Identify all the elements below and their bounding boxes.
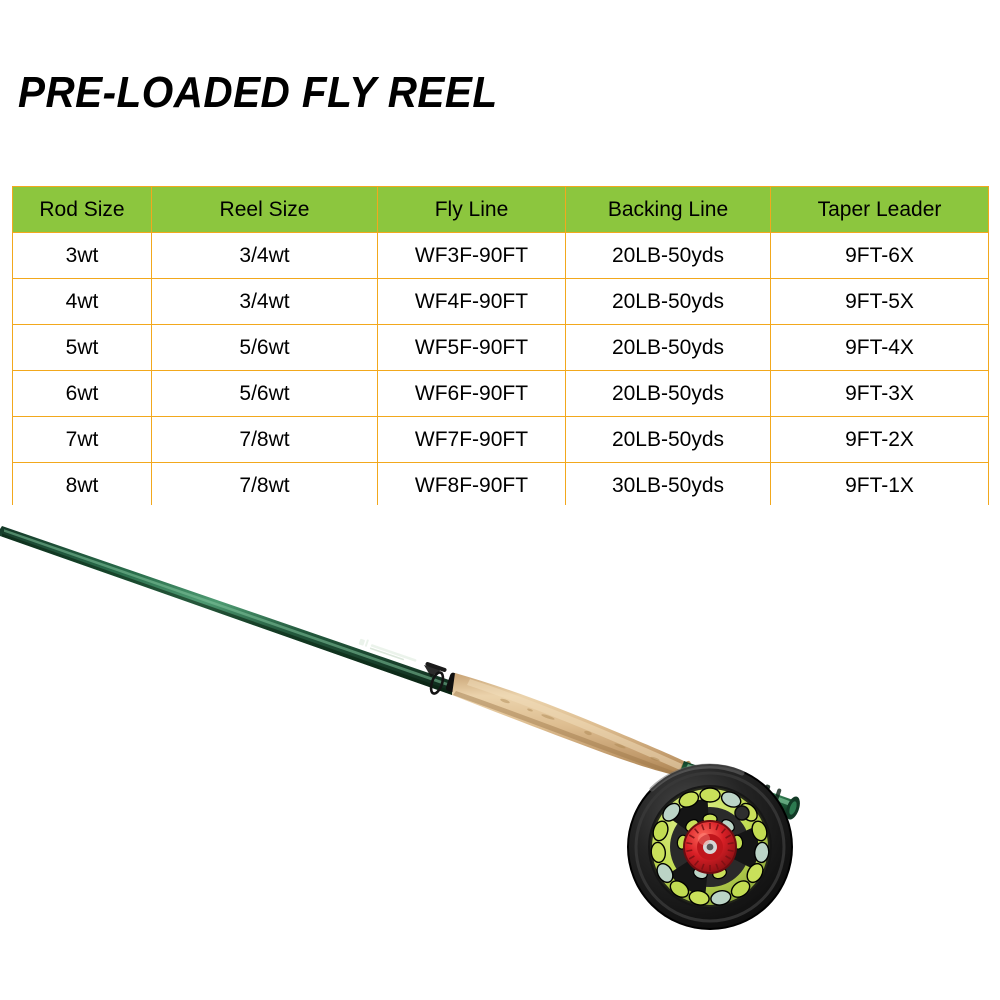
cell-fly-line: WF5F-90FT (378, 325, 566, 371)
fly-rod-and-reel-photo (0, 505, 1000, 1000)
page-title: PRE-LOADED FLY REEL (18, 68, 498, 118)
cell-backing-line: 20LB-50yds (566, 325, 771, 371)
cell-rod-size: 8wt (13, 463, 152, 509)
table-row: 5wt 5/6wt WF5F-90FT 20LB-50yds 9FT-4X (13, 325, 989, 371)
reel-drag-knob[interactable] (684, 821, 736, 873)
table-row: 8wt 7/8wt WF8F-90FT 30LB-50yds 9FT-1X (13, 463, 989, 509)
table-row: 3wt 3/4wt WF3F-90FT 20LB-50yds 9FT-6X (13, 233, 989, 279)
table-row: 6wt 5/6wt WF6F-90FT 20LB-50yds 9FT-3X (13, 371, 989, 417)
fly-reel-spec-table: Rod Size Reel Size Fly Line Backing Line… (12, 186, 989, 509)
cell-rod-size: 6wt (13, 371, 152, 417)
column-header-reel-size: Reel Size (152, 187, 378, 233)
cell-rod-size: 3wt (13, 233, 152, 279)
cell-taper-leader: 9FT-6X (771, 233, 989, 279)
column-header-backing-line: Backing Line (566, 187, 771, 233)
cell-taper-leader: 9FT-5X (771, 279, 989, 325)
cell-backing-line: 30LB-50yds (566, 463, 771, 509)
cell-fly-line: WF8F-90FT (378, 463, 566, 509)
cell-backing-line: 20LB-50yds (566, 417, 771, 463)
cell-backing-line: 20LB-50yds (566, 233, 771, 279)
cell-reel-size: 5/6wt (152, 371, 378, 417)
cell-fly-line: WF3F-90FT (378, 233, 566, 279)
cell-rod-size: 7wt (13, 417, 152, 463)
cell-taper-leader: 9FT-4X (771, 325, 989, 371)
table-header-row: Rod Size Reel Size Fly Line Backing Line… (13, 187, 989, 233)
cell-taper-leader: 9FT-3X (771, 371, 989, 417)
table-row: 4wt 3/4wt WF4F-90FT 20LB-50yds 9FT-5X (13, 279, 989, 325)
cell-backing-line: 20LB-50yds (566, 279, 771, 325)
table-row: 7wt 7/8wt WF7F-90FT 20LB-50yds 9FT-2X (13, 417, 989, 463)
cell-backing-line: 20LB-50yds (566, 371, 771, 417)
cell-taper-leader: 9FT-1X (771, 463, 989, 509)
cell-reel-size: 3/4wt (152, 279, 378, 325)
column-header-taper-leader: Taper Leader (771, 187, 989, 233)
cell-fly-line: WF4F-90FT (378, 279, 566, 325)
column-header-fly-line: Fly Line (378, 187, 566, 233)
cell-fly-line: WF6F-90FT (378, 371, 566, 417)
cell-rod-size: 4wt (13, 279, 152, 325)
cell-taper-leader: 9FT-2X (771, 417, 989, 463)
cell-reel-size: 7/8wt (152, 417, 378, 463)
cell-reel-size: 3/4wt (152, 233, 378, 279)
column-header-rod-size: Rod Size (13, 187, 152, 233)
cork-grip (452, 673, 693, 780)
fly-reel (628, 765, 792, 929)
cell-rod-size: 5wt (13, 325, 152, 371)
cell-reel-size: 5/6wt (152, 325, 378, 371)
rod-blank (0, 526, 452, 695)
cell-fly-line: WF7F-90FT (378, 417, 566, 463)
cell-reel-size: 7/8wt (152, 463, 378, 509)
